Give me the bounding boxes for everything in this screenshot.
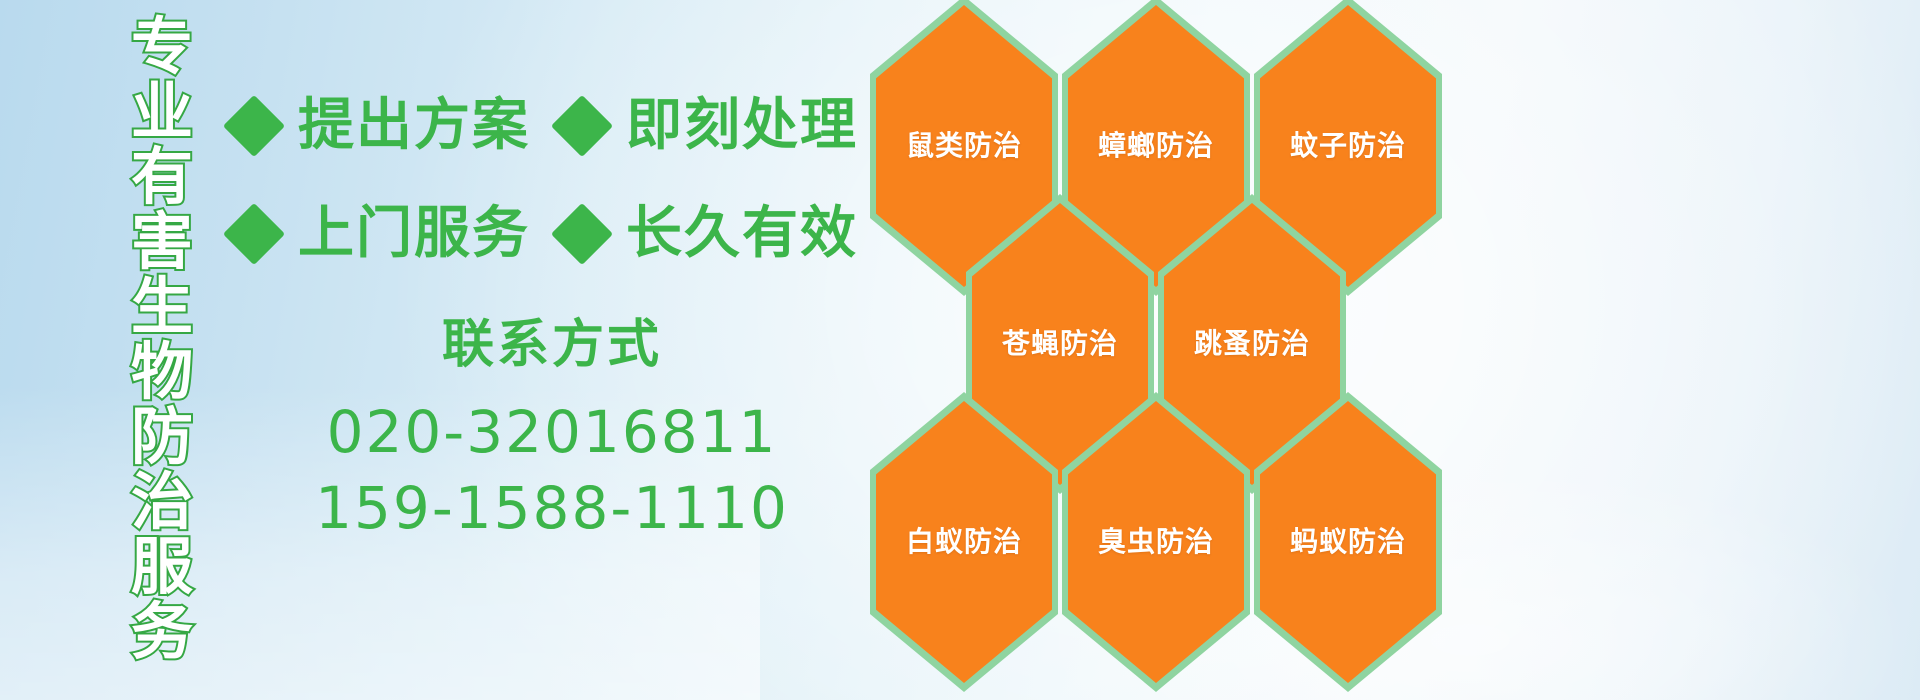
contact-phone-mobile[interactable]: 159-1588-1110	[232, 470, 872, 547]
service-label: 白蚁防治	[906, 528, 1022, 556]
feature-row: 上门服务 长久有效	[232, 180, 872, 288]
vertical-headline-char: 防	[131, 404, 193, 469]
feature-item-propose-plan: 提出方案	[232, 98, 530, 154]
service-label: 鼠类防治	[906, 132, 1022, 160]
vertical-headline-char: 有	[131, 144, 193, 209]
contact-phone-landline[interactable]: 020-32016811	[232, 394, 872, 471]
feature-label: 即刻处理	[626, 98, 858, 154]
service-label: 蚂蚁防治	[1290, 528, 1406, 556]
service-honeycomb: 鼠类防治 蟑螂防治 蚊子防治 苍蝇防治 跳蚤防治 白蚁防治 臭虫防治 蚂蚁	[862, 0, 1462, 700]
service-label: 臭虫防治	[1098, 528, 1214, 556]
vertical-headline-char: 务	[131, 599, 193, 664]
diamond-icon	[223, 203, 285, 265]
feature-label: 长久有效	[626, 206, 858, 262]
feature-item-immediate-action: 即刻处理	[560, 98, 858, 154]
vertical-headline-char: 生	[131, 274, 193, 339]
service-label: 蟑螂防治	[1098, 132, 1214, 160]
vertical-headline-char: 服	[131, 534, 193, 599]
diamond-icon	[551, 95, 613, 157]
feature-item-onsite-service: 上门服务	[232, 206, 530, 262]
vertical-headline-char: 害	[131, 209, 193, 274]
contact-title: 联系方式	[232, 316, 872, 376]
feature-list: 提出方案 即刻处理 上门服务 长久有效	[232, 72, 872, 288]
service-label: 苍蝇防治	[1002, 330, 1118, 358]
service-label: 蚊子防治	[1290, 132, 1406, 160]
vertical-headline: 专 业 有 害 生 物 防 治 服 务	[108, 14, 216, 686]
contact-block: 联系方式 020-32016811 159-1588-1110	[232, 316, 872, 547]
feature-label: 上门服务	[298, 206, 530, 262]
vertical-headline-char: 业	[131, 79, 193, 144]
diamond-icon	[551, 203, 613, 265]
feature-row: 提出方案 即刻处理	[232, 72, 872, 180]
vertical-headline-char: 治	[131, 469, 193, 534]
diamond-icon	[223, 95, 285, 157]
vertical-headline-char: 专	[131, 14, 193, 79]
vertical-headline-char: 物	[131, 339, 193, 404]
feature-item-long-lasting: 长久有效	[560, 206, 858, 262]
pest-control-banner: 专 业 有 害 生 物 防 治 服 务 提出方案 即刻处理 上门服务	[0, 0, 1920, 700]
feature-label: 提出方案	[298, 98, 530, 154]
service-label: 跳蚤防治	[1194, 330, 1310, 358]
